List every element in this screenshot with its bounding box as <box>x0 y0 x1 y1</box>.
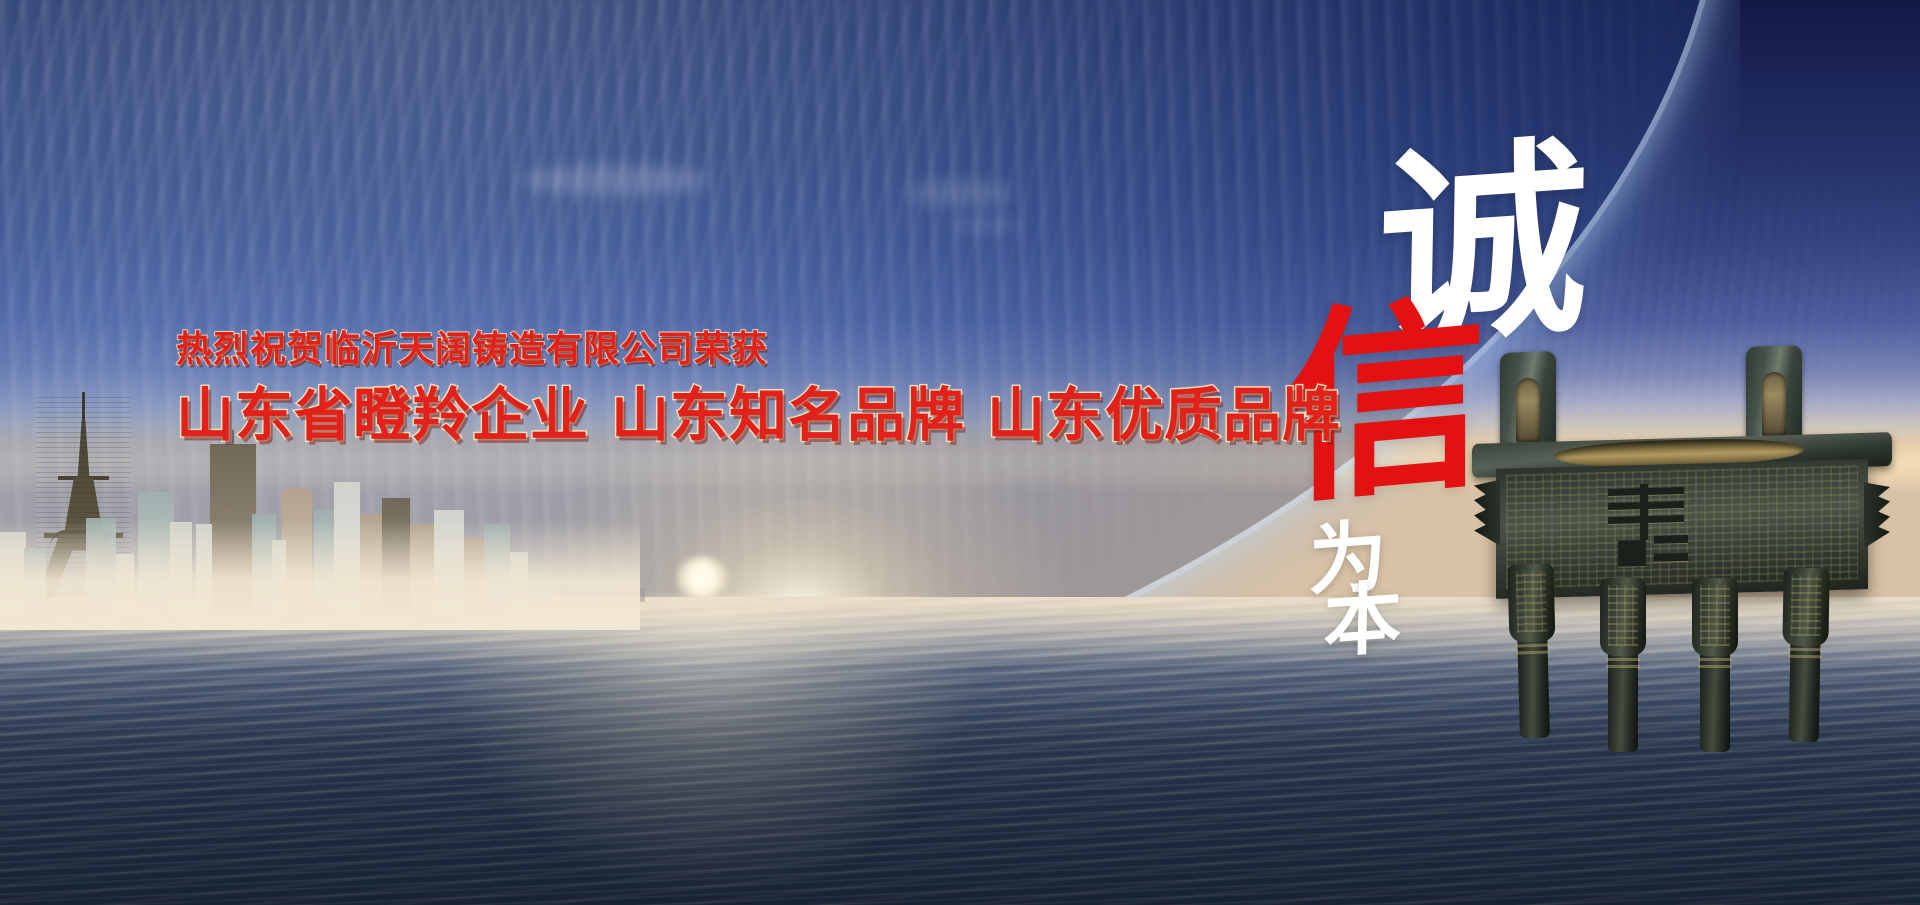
headline-line-1: 热烈祝贺临沂天阔铸造有限公司荣获 <box>176 330 1076 370</box>
award-badge-2: 山东知名品牌 <box>611 381 965 449</box>
award-badge-1: 山东省瞪羚企业 <box>176 381 589 449</box>
cloud-blob <box>520 165 710 195</box>
ding-seal-script-glyph <box>1598 483 1694 578</box>
cloud-blob <box>950 216 1020 234</box>
ding-flange-left <box>1474 480 1500 547</box>
banner-image: 诚 信 为 本 热烈祝贺临沂天阔铸造有限公司荣获 山东省瞪羚企业山东知名品牌山东… <box>0 0 1920 905</box>
cloud-blob <box>905 180 1015 206</box>
bronze-ding-vessel <box>1478 352 1908 772</box>
ding-leg <box>1516 588 1550 739</box>
ding-leg <box>1700 602 1730 752</box>
ding-leg <box>1789 592 1822 743</box>
award-badge-3: 山东优质品牌 <box>987 381 1341 449</box>
ding-leg <box>1608 602 1638 752</box>
headline-line-2: 山东省瞪羚企业山东知名品牌山东优质品牌 <box>176 384 1076 448</box>
headline-block: 热烈祝贺临沂天阔铸造有限公司荣获 山东省瞪羚企业山东知名品牌山东优质品牌 <box>176 330 1076 447</box>
ding-flange-right <box>1864 482 1890 549</box>
city-mist <box>0 520 640 630</box>
